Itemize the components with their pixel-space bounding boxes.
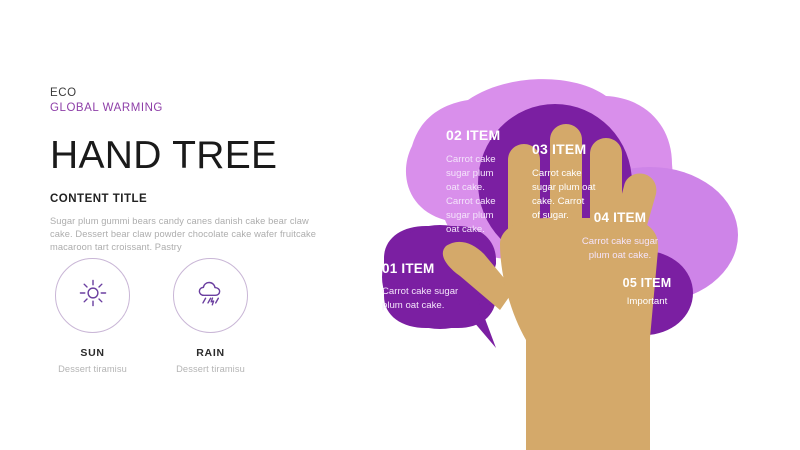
bubble-01-title: 01 ITEM xyxy=(382,261,434,276)
feature-name-rain: RAIN xyxy=(196,347,224,359)
bubble-02-body-line-1: Carrot cake xyxy=(446,154,496,165)
bubble-05-title: 05 ITEM xyxy=(623,276,672,290)
bubble-03-title: 03 ITEM xyxy=(532,141,586,157)
bubble-04-body-line-2: plum oat cake. xyxy=(589,250,651,261)
bubble-02-body-line-6: oat cake. xyxy=(446,224,485,235)
bubble-02-body-line-4: Carrot cake xyxy=(446,196,496,207)
bubble-01-body-line-1: Carrot cake sugar xyxy=(382,286,459,297)
bubble-04-title: 04 ITEM xyxy=(594,210,646,225)
body-paragraph: Sugar plum gummi bears candy canes danis… xyxy=(50,215,327,255)
content-title: CONTENT TITLE xyxy=(50,193,350,205)
eyebrow-global-warming: GLOBAL WARMING xyxy=(50,101,350,116)
left-text-panel: ECO GLOBAL WARMING HAND TREE CONTENT TIT… xyxy=(50,86,350,255)
feature-name-sun: SUN xyxy=(80,347,104,359)
bubble-02-title: 02 ITEM xyxy=(446,127,500,143)
bubble-02-body-line-3: oat cake. xyxy=(446,182,485,193)
bubble-01-body-line-2: plum oat cake. xyxy=(382,300,444,311)
feature-item-sun[interactable]: SUN Dessert tiramisu xyxy=(55,258,130,374)
eyebrow-eco: ECO xyxy=(50,86,350,100)
rain-cloud-icon xyxy=(195,278,227,313)
bubble-03-body-line-2: sugar plum oat xyxy=(532,182,596,193)
bubble-03-body-line-1: Carrot cake xyxy=(532,168,582,179)
page-title: HAND TREE xyxy=(50,133,350,179)
bubble-03-body-line-4: of sugar. xyxy=(532,210,569,221)
feature-item-rain[interactable]: RAIN Dessert tiramisu xyxy=(173,258,248,374)
feature-list: SUN Dessert tiramisu RAIN Dessert tirami… xyxy=(55,258,248,374)
bubble-02-body-line-5: sugar plum xyxy=(446,210,493,221)
bubble-05-body-line-1: Important xyxy=(627,296,668,307)
rain-cloud-icon-frame xyxy=(173,258,248,333)
bubble-03-body-line-3: cake. Carrot xyxy=(532,196,585,207)
feature-desc-sun: Dessert tiramisu xyxy=(58,364,127,374)
bubble-04-body-line-1: Carrot cake sugar xyxy=(582,236,659,247)
sun-icon xyxy=(78,278,108,313)
sun-icon-frame xyxy=(55,258,130,333)
slide-canvas: ECO GLOBAL WARMING HAND TREE CONTENT TIT… xyxy=(0,0,800,450)
feature-desc-rain: Dessert tiramisu xyxy=(176,364,245,374)
bubble-02-body-line-2: sugar plum xyxy=(446,168,493,179)
hand-tree-illustration: 02 ITEM Carrot cake sugar plum oat cake.… xyxy=(350,78,800,450)
